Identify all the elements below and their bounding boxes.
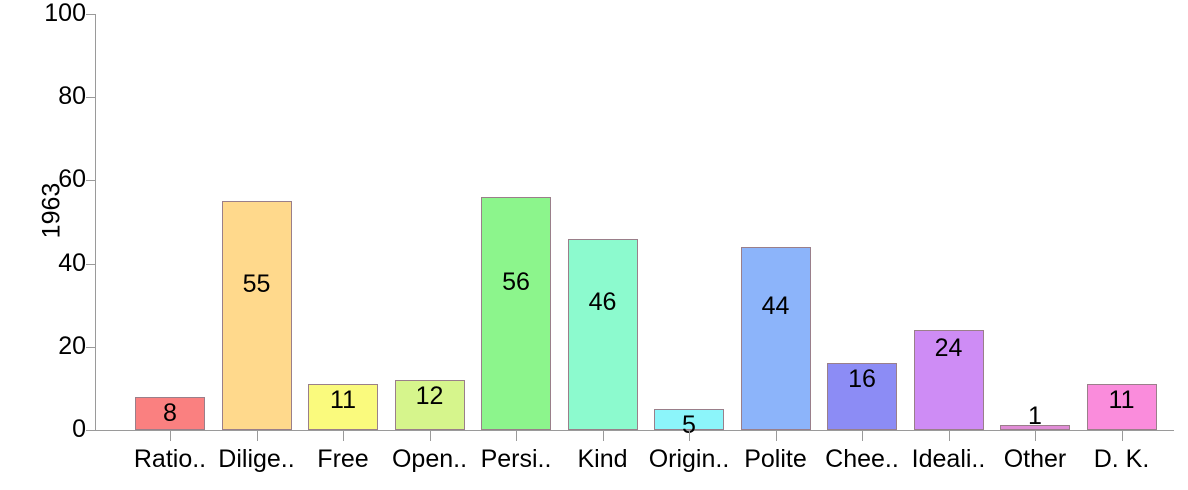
y-axis-tick bbox=[86, 347, 95, 348]
x-axis-tick-label: D. K. bbox=[1062, 447, 1182, 472]
bar-chart: 1963 020406080100 855111256465441624111 … bbox=[0, 0, 1188, 490]
bar-value-label: 12 bbox=[390, 384, 470, 409]
bar-value-label: 55 bbox=[217, 272, 297, 297]
bar-value-label: 11 bbox=[1082, 388, 1162, 413]
y-axis-tick bbox=[86, 430, 95, 431]
bar[interactable] bbox=[481, 197, 551, 430]
x-axis-tick bbox=[689, 431, 690, 441]
bar-value-label: 56 bbox=[476, 270, 556, 295]
y-axis-tick bbox=[86, 180, 95, 181]
x-axis-tick bbox=[516, 431, 517, 441]
x-axis-tick bbox=[170, 431, 171, 441]
y-axis-tick-label: 100 bbox=[16, 1, 86, 26]
x-axis-tick bbox=[776, 431, 777, 441]
y-axis-tick-label: 40 bbox=[16, 251, 86, 276]
y-axis-line bbox=[95, 14, 96, 430]
y-axis-tick-label: 60 bbox=[16, 167, 86, 192]
x-axis-tick bbox=[343, 431, 344, 441]
bar-value-label: 24 bbox=[909, 336, 989, 361]
x-axis-tick bbox=[1035, 431, 1036, 441]
bar[interactable] bbox=[568, 239, 638, 430]
x-axis-tick bbox=[430, 431, 431, 441]
x-axis-tick bbox=[257, 431, 258, 441]
y-axis-tick-label: 80 bbox=[16, 84, 86, 109]
bar-value-label: 44 bbox=[736, 294, 816, 319]
bar[interactable] bbox=[222, 201, 292, 430]
x-axis-tick bbox=[862, 431, 863, 441]
y-axis-tick bbox=[86, 97, 95, 98]
y-axis-tick-label: 20 bbox=[16, 334, 86, 359]
bar-value-label: 16 bbox=[822, 367, 902, 392]
bar-value-label: 11 bbox=[303, 388, 383, 413]
y-axis-tick bbox=[86, 14, 95, 15]
x-axis-tick bbox=[949, 431, 950, 441]
x-axis-tick bbox=[1122, 431, 1123, 441]
x-axis-tick bbox=[603, 431, 604, 441]
bar-value-label: 46 bbox=[563, 290, 643, 315]
bar-value-label: 1 bbox=[995, 404, 1075, 429]
y-axis-tick-label: 0 bbox=[16, 417, 86, 442]
y-axis-tick bbox=[86, 264, 95, 265]
bar[interactable] bbox=[741, 247, 811, 430]
bar-value-label: 8 bbox=[130, 401, 210, 426]
